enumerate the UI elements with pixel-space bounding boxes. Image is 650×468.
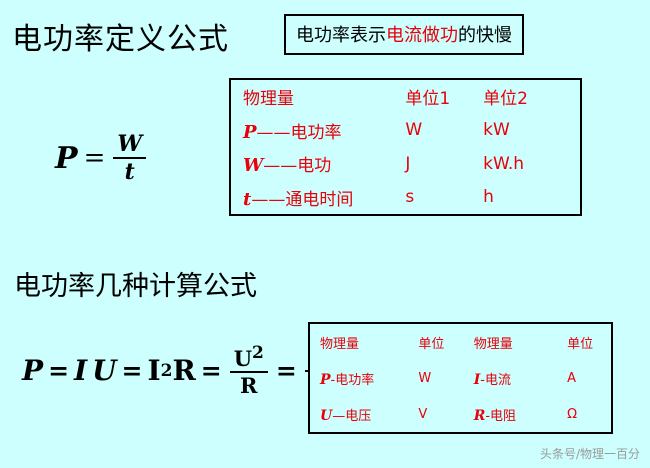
- header-unit-right: 单位: [565, 324, 611, 360]
- definition-statement-box: 电功率表示电流做功的快慢: [284, 14, 524, 55]
- calc-term3-R: R: [236, 373, 261, 396]
- table-row: U—电压 V R-电阻 Ω: [310, 396, 611, 432]
- row-quantity: P——电功率: [231, 114, 403, 148]
- row-name-right: -电流: [480, 373, 511, 388]
- row-quantity-left: U—电压: [310, 396, 416, 432]
- section-title: 电功率几种计算公式: [14, 264, 257, 303]
- calculation-formula: P = I U = I2R = U2 R = W t: [22, 345, 339, 396]
- header-unit-left: 单位: [416, 324, 465, 360]
- row-name: 电功率: [291, 123, 342, 143]
- formula-fraction: W t: [113, 133, 146, 183]
- table-row: P——电功率 W kW: [231, 114, 580, 148]
- row-symbol: W: [243, 155, 263, 176]
- row-dash: ——: [251, 190, 285, 210]
- row-unit-2: kW: [481, 114, 580, 148]
- header-unit-2: 单位2: [481, 80, 580, 114]
- row-quantity: t——通电时间: [231, 181, 403, 215]
- formula-lhs-P: P: [55, 141, 78, 176]
- row-unit-left: V: [416, 396, 465, 432]
- table-header-row: 物理量 单位 物理量 单位: [310, 324, 611, 360]
- statement-part-3: 的快慢: [458, 25, 512, 46]
- row-quantity: W——电功: [231, 147, 403, 181]
- header-unit-1: 单位1: [403, 80, 481, 114]
- row-dash: ——: [257, 123, 291, 143]
- row-name-left: —电压: [332, 409, 371, 424]
- statement-part-1: 电功率表示: [296, 25, 386, 46]
- slide-canvas: 电功率定义公式 电功率表示电流做功的快慢 P = W t 物理量 单位1 单位2…: [0, 0, 650, 468]
- page-title: 电功率定义公式: [12, 14, 229, 58]
- formula-denominator-t: t: [121, 159, 139, 183]
- row-dash: ——: [263, 156, 297, 176]
- header-quantity-right: 物理量: [466, 324, 565, 360]
- row-quantity-right: I-电流: [466, 360, 565, 396]
- calc-term1-U: U: [92, 354, 116, 387]
- calc-equals-2: =: [122, 356, 143, 385]
- row-name: 电功: [297, 156, 331, 176]
- calc-term2-I: I: [148, 354, 161, 387]
- calc-fraction-numerator: U2: [230, 345, 268, 371]
- row-name-left: -电功率: [331, 373, 375, 388]
- row-unit-right: A: [565, 360, 611, 396]
- row-symbol-left: U: [320, 408, 332, 424]
- table-row: t——通电时间 s h: [231, 181, 580, 215]
- calc-term3-U: U: [234, 346, 252, 371]
- table-header-row: 物理量 单位1 单位2: [231, 80, 580, 114]
- quantities-table-upper: 物理量 单位1 单位2 P——电功率 W kW W——电功 J kW.h t——…: [229, 78, 582, 216]
- calc-equals-4: =: [276, 356, 297, 385]
- table-row: W——电功 J kW.h: [231, 147, 580, 181]
- row-name: 通电时间: [285, 190, 353, 210]
- table-row: P-电功率 W I-电流 A: [310, 360, 611, 396]
- row-symbol-left: P: [320, 372, 331, 388]
- statement-part-2: 电流做功: [386, 25, 458, 46]
- formula-numerator-W: W: [113, 133, 146, 157]
- header-quantity-left: 物理量: [310, 324, 416, 360]
- calc-term3-exponent: 2: [252, 343, 264, 363]
- formula-equals: =: [84, 143, 106, 173]
- row-quantity-left: P-电功率: [310, 360, 416, 396]
- row-unit-2: h: [481, 181, 580, 215]
- quantities-table-lower: 物理量 单位 物理量 单位 P-电功率 W I-电流 A U—电压 V R-电阻…: [308, 322, 613, 434]
- calc-term2-exponent: 2: [161, 361, 173, 381]
- row-unit-right: Ω: [565, 396, 611, 432]
- row-symbol-right: R: [474, 408, 486, 424]
- row-unit-1: J: [403, 147, 481, 181]
- header-quantity: 物理量: [231, 80, 403, 114]
- row-name-right: -电阻: [485, 409, 516, 424]
- row-quantity-right: R-电阻: [466, 396, 565, 432]
- calc-equals-3: =: [201, 356, 222, 385]
- row-unit-2: kW.h: [481, 147, 580, 181]
- row-unit-1: W: [403, 114, 481, 148]
- watermark: 头条号/物理一百分: [540, 445, 640, 462]
- row-unit-left: W: [416, 360, 465, 396]
- calc-lhs-P: P: [22, 354, 43, 387]
- row-unit-1: s: [403, 181, 481, 215]
- calc-term1-I: I: [74, 354, 87, 387]
- calc-equals-1: =: [48, 356, 69, 385]
- calc-term2-R: R: [172, 354, 195, 387]
- definition-formula: P = W t: [55, 133, 146, 183]
- row-symbol: P: [243, 122, 257, 143]
- calc-fraction-u2r: U2 R: [230, 345, 268, 396]
